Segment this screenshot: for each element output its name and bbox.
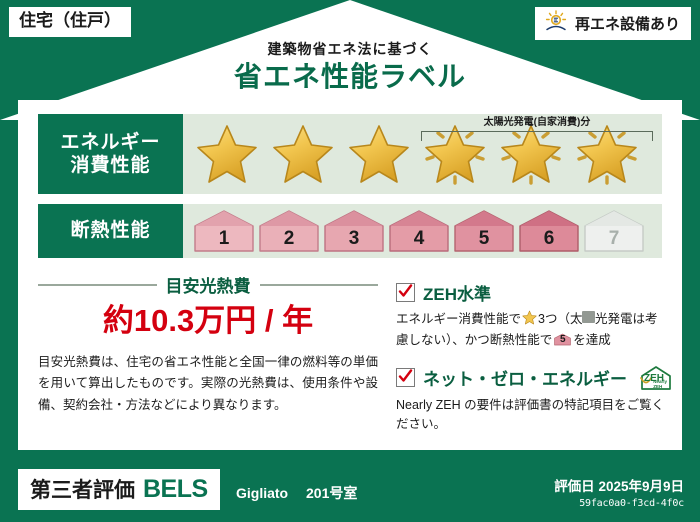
zeh-logo-sub: Nearly ZEH xyxy=(653,380,667,389)
utility-cost-amount: 約10.3万円 / 年 xyxy=(38,305,378,338)
title-block: 建築物省エネ法に基づく 省エネ性能ラベル xyxy=(0,42,700,91)
insulation-level-6: 6 xyxy=(518,209,580,253)
renewable-equipment-badge: 再エネ設備あり xyxy=(534,6,692,41)
category-chip: 住宅（住戸） xyxy=(8,6,132,38)
checkmark-icon xyxy=(396,283,415,302)
zeh-desc-part3: を達成 xyxy=(573,333,611,347)
insulation-performance-row: 断熱性能 1 2 xyxy=(38,204,662,258)
check-net-zero-title: ネット・ゼロ・エネルギー xyxy=(423,365,627,390)
inline-star-icon xyxy=(522,310,537,331)
check-net-zero-energy: ネット・ゼロ・エネルギー ZEH Nearly ZEH Nearly ZEH xyxy=(396,365,666,435)
insulation-level-1: 1 xyxy=(193,209,255,253)
inline-house-level: 5 xyxy=(554,332,571,348)
bels-evaluation-badge: 第三者評価 BELS xyxy=(18,469,220,510)
renewable-badge-label: 再エネ設備あり xyxy=(575,13,680,34)
star-1 xyxy=(189,119,265,189)
rule-left xyxy=(38,284,157,286)
evaluation-date: 評価日 2025年9月9日 xyxy=(554,479,684,495)
energy-stars-area: 太陽光発電(自家消費)分 xyxy=(183,114,662,194)
utility-cost-heading: 目安光熱費 xyxy=(38,272,378,297)
insulation-level-5-value: 5 xyxy=(479,228,490,253)
check-net-zero-head: ネット・ゼロ・エネルギー ZEH Nearly ZEH xyxy=(396,365,666,391)
energy-label-line2: 消費性能 xyxy=(70,154,150,177)
insulation-label-text: 断熱性能 xyxy=(70,219,150,242)
utility-cost-note: 目安光熱費は、住宅の省エネ性能と全国一律の燃料等の単価を用いて算出したものです。… xyxy=(38,352,378,418)
energy-performance-label: 住宅（住戸） 再エネ設備あり 建築物省エネ法に基づく 省エネ性能ラベル xyxy=(0,0,700,522)
document-id: 59fac0a0-f3cd-4f0c xyxy=(554,498,684,509)
insulation-performance-label: 断熱性能 xyxy=(38,204,183,258)
insulation-levels-area: 1 2 3 xyxy=(183,204,662,258)
star-5-solar xyxy=(493,119,569,189)
property-info: Gigliato 201号室 xyxy=(236,483,357,503)
utility-cost-title: 目安光熱費 xyxy=(166,272,251,297)
check-zeh-standard-head: ZEH水準 xyxy=(396,280,666,305)
star-4-solar xyxy=(417,119,493,189)
bels-brand: BELS xyxy=(143,475,208,504)
check-zeh-standard-title: ZEH水準 xyxy=(423,280,491,305)
property-name: Gigliato xyxy=(236,485,288,501)
insulation-level-scale: 1 2 3 xyxy=(183,204,662,258)
energy-performance-label: エネルギー 消費性能 xyxy=(38,114,183,194)
page-title: 省エネ性能ラベル xyxy=(0,63,700,91)
rule-right xyxy=(260,284,379,286)
inline-house-icon: 5 xyxy=(554,332,571,347)
insulation-level-7-value: 7 xyxy=(609,228,620,253)
evaluation-meta: 評価日 2025年9月9日 59fac0a0-f3cd-4f0c xyxy=(554,479,684,509)
room-number: 201号室 xyxy=(306,485,357,501)
insulation-level-1-value: 1 xyxy=(219,228,230,253)
insulation-level-2: 2 xyxy=(258,209,320,253)
zeh-logo-sub2: ZEH xyxy=(653,384,662,389)
insulation-level-4-value: 4 xyxy=(414,228,425,253)
zeh-desc-part1: エネルギー消費性能で xyxy=(396,312,521,326)
insulation-level-2-value: 2 xyxy=(284,228,295,253)
insulation-level-6-value: 6 xyxy=(544,228,555,253)
energy-performance-row: エネルギー 消費性能 太陽光発電(自家消費)分 xyxy=(38,114,662,194)
insulation-level-7: 7 xyxy=(583,209,645,253)
star-3 xyxy=(341,119,417,189)
redacted-char: 陽 xyxy=(582,311,595,323)
zeh-desc-stars: 3つ（太 xyxy=(538,312,582,326)
main-card: エネルギー 消費性能 太陽光発電(自家消費)分 xyxy=(18,100,682,450)
star-2 xyxy=(265,119,341,189)
check-zeh-standard-desc: エネルギー消費性能で3つ（太陽光発電は考慮しない）、かつ断熱性能で5を達成 xyxy=(396,310,666,351)
insulation-level-5: 5 xyxy=(453,209,515,253)
third-party-eval-label: 第三者評価 xyxy=(30,474,135,504)
sun-icon xyxy=(544,10,568,37)
check-zeh-standard: ZEH水準 エネルギー消費性能で3つ（太陽光発電は考慮しない）、かつ断熱性能で5… xyxy=(396,280,666,351)
label-subtitle: 建築物省エネ法に基づく xyxy=(0,42,700,56)
checkmark-icon xyxy=(396,368,415,387)
utility-cost-block: 目安光熱費 約10.3万円 / 年 目安光熱費は、住宅の省エネ性能と全国一律の燃… xyxy=(38,272,378,417)
zeh-house-logo-icon: ZEH Nearly ZEH xyxy=(639,365,666,391)
insulation-level-3: 3 xyxy=(323,209,385,253)
star-rating xyxy=(183,114,662,194)
certification-checks: ZEH水準 エネルギー消費性能で3つ（太陽光発電は考慮しない）、かつ断熱性能で5… xyxy=(396,280,666,449)
star-6-solar xyxy=(569,119,645,189)
check-net-zero-desc: Nearly ZEH の要件は評価書の特記項目をご覧ください。 xyxy=(396,396,666,435)
energy-label-line1: エネルギー xyxy=(60,131,160,154)
insulation-level-4: 4 xyxy=(388,209,450,253)
insulation-level-3-value: 3 xyxy=(349,228,360,253)
